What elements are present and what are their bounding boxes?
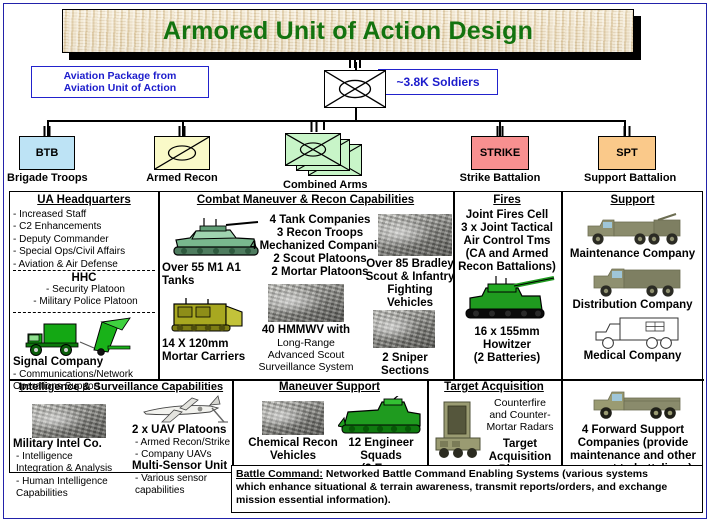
ua-headquarters-bullets: - Increased Staff - C2 Enhancements - De… — [10, 209, 158, 271]
divider-bot-1 — [232, 379, 234, 474]
battle-command-text-1: Networked Battle Command Enabling System… — [326, 468, 648, 480]
uav-line-1: - Armed Recon/Strike — [135, 437, 232, 449]
ambulance-icon — [590, 314, 686, 352]
hhc-bullets: - Security Platoon - Military Police Pla… — [10, 284, 158, 309]
hmmwv-heading: 40 HMMWV with — [250, 324, 362, 337]
howitzer-line-3: (2 Batteries) — [453, 352, 561, 365]
hmmwv-line-3: Surveillance System — [250, 361, 362, 373]
org-unit-armed-recon[interactable]: Armed Recon — [142, 136, 222, 184]
hmmwv-label: 40 HMMWV with Long-Range Advanced Scout … — [250, 324, 362, 373]
hq-bullet-3: - Deputy Commander — [13, 234, 158, 246]
org-unit-btb[interactable]: BTB Brigade Troops — [7, 136, 87, 184]
aviation-callout-line1: Aviation Package from — [64, 70, 177, 82]
medical-company-label: Medical Company — [561, 350, 704, 363]
battle-command-label: Battle Command: — [236, 468, 323, 480]
cavalry-glyph-icon — [155, 137, 209, 169]
chem-line-2: Vehicles — [246, 450, 340, 463]
engineer-line-1: 12 Engineer Squads — [332, 437, 430, 463]
multisensor-line-2: capabilities — [135, 485, 232, 497]
hhc-section: HHC - Security Platoon - Military Police… — [10, 272, 158, 309]
uav-lines: - Armed Recon/Strike - Company UAVs — [132, 437, 232, 462]
fires-line-2: 3 x Joint Tactical — [453, 222, 561, 235]
multisensor-block: Multi-Sensor Unit - Various sensor capab… — [132, 460, 232, 498]
armor-cavalry-glyph-icon — [325, 71, 385, 107]
intel-tent-photo — [32, 404, 106, 438]
mortar-carrier-label: 14 X 120mm Mortar Carriers — [162, 338, 262, 364]
echelon-marker-combined-arms — [311, 122, 318, 132]
fires-line-5: Recon Battalions) — [453, 261, 561, 274]
page-title: Armored Unit of Action Design — [163, 17, 533, 46]
soldier-count-callout: ~3.8K Soldiers — [378, 69, 498, 95]
spt-abbr: SPT — [599, 137, 655, 169]
battle-command-line-2: which enhance situational & terrain awar… — [236, 481, 698, 494]
multisensor-line-1: - Various sensor — [135, 473, 232, 485]
combined-arms-stack — [283, 130, 367, 178]
aviation-callout-line2: Aviation Unit of Action — [64, 82, 177, 94]
uav-drone-icon — [134, 392, 228, 428]
cargo-truck-icon — [590, 264, 686, 300]
signal-truck-icon — [22, 316, 142, 360]
echelon-marker-spt — [624, 126, 631, 136]
hq-bullet-2: - C2 Enhancements — [13, 221, 158, 233]
spt-caption: Support Battalion — [584, 172, 670, 184]
combined-arms-caption: Combined Arms — [283, 179, 367, 191]
maintenance-company-label: Maintenance Company — [561, 248, 704, 261]
radar-desc: Counterfire and Counter- Mortar Radars — [480, 397, 560, 433]
fires-line-3: Air Control Tms — [453, 235, 561, 248]
armed-recon-caption: Armed Recon — [142, 172, 222, 184]
hmmwv-line-2: Advanced Scout — [250, 349, 362, 361]
cm-list-2: 3 Recon Troops — [240, 227, 400, 240]
military-intel-lines: - Intelligence Integration & Analysis - … — [13, 451, 125, 501]
howitzer-label: 16 x 155mm Howitzer (2 Batteries) — [453, 326, 561, 365]
fs-line-2: Companies (provide — [563, 437, 703, 450]
fires-panel: Fires Joint Fires Cell 3 x Joint Tactica… — [453, 194, 561, 274]
ta-unit-line-2: Acquisition — [480, 451, 560, 464]
mortar-line-2: Mortar Carriers — [162, 351, 262, 364]
military-intel-block: Military Intel Co. - Intelligence Integr… — [13, 438, 125, 501]
btb-caption: Brigade Troops — [7, 172, 87, 184]
support-title: Support — [561, 194, 704, 206]
org-bus-line — [47, 120, 625, 122]
target-acquisition-title: Target Acquisition — [427, 381, 561, 393]
echelon-marker-strike — [497, 126, 504, 136]
support-truck-icon — [590, 388, 686, 424]
support-panel: Support — [561, 194, 704, 206]
ta-unit-line-1: Target — [480, 438, 560, 451]
hhc-bullet-2: - Military Police Platoon — [13, 296, 158, 308]
fs-line-3: maintenance and other — [563, 450, 703, 463]
intel-line-3: - Human Intelligence — [16, 476, 125, 488]
hq-bullet-4: - Special Ops/Civil Affairs — [13, 246, 158, 258]
fires-line-1: Joint Fires Cell — [453, 209, 561, 222]
radar-line-2: and Counter- — [480, 409, 560, 421]
echelon-marker-btb — [44, 126, 51, 136]
target-acquisition-panel: Target Acquisition — [427, 381, 561, 393]
multisensor-title: Multi-Sensor Unit — [132, 460, 232, 473]
hq-bullet-1: - Increased Staff — [13, 209, 158, 221]
fires-title: Fires — [453, 194, 561, 206]
org-unit-spt[interactable]: SPT Support Battalion — [584, 136, 670, 184]
chemical-recon-photo — [262, 401, 324, 435]
brigade-unit-symbol — [324, 70, 386, 108]
fires-lines: Joint Fires Cell 3 x Joint Tactical Air … — [453, 209, 561, 274]
hhc-bullet-1: - Security Platoon — [13, 284, 158, 296]
strike-abbr: STRIKE — [472, 137, 528, 169]
engineer-vehicle-icon — [338, 396, 426, 438]
maneuver-support-panel: Maneuver Support — [232, 381, 427, 393]
divider-hhc-top — [13, 270, 155, 271]
uav-title: 2 x UAV Platoons — [132, 424, 232, 437]
battle-command-strip: Battle Command: Networked Battle Command… — [231, 465, 703, 513]
mortar-carrier-icon — [168, 296, 252, 338]
military-intel-title: Military Intel Co. — [13, 438, 125, 451]
howitzer-line-1: 16 x 155mm — [453, 326, 561, 339]
org-unit-strike[interactable]: STRIKE Strike Battalion — [459, 136, 541, 184]
divider-signal-top — [13, 312, 155, 313]
spt-symbol-box: SPT — [598, 136, 656, 170]
bradley-photo — [378, 214, 452, 256]
hhc-title: HHC — [10, 272, 158, 284]
howitzer-icon — [462, 276, 558, 324]
combined-arms-symbol-front — [285, 133, 341, 166]
sniper-photo — [373, 310, 435, 348]
sniper-label: 2 Sniper Sections — [358, 352, 452, 378]
uav-block: 2 x UAV Platoons - Armed Recon/Strike - … — [132, 424, 232, 462]
brigade-hq-symbol-group — [315, 70, 395, 108]
btb-symbol-box: BTB — [19, 136, 75, 170]
distribution-company-label: Distribution Company — [561, 299, 704, 312]
radar-line-1: Counterfire — [480, 397, 560, 409]
fs-line-1: 4 Forward Support — [563, 424, 703, 437]
drop-combined-arms — [323, 120, 325, 130]
combat-maneuver-panel: Combat Maneuver & Recon Capabilities — [158, 194, 453, 206]
org-unit-combined-arms[interactable]: Combined Arms — [283, 130, 367, 191]
armor-cavalry-glyph-front-icon — [286, 134, 340, 165]
battle-command-line-3: mission essential information). — [236, 494, 698, 507]
cm-list-1: 4 Tank Companies — [240, 214, 400, 227]
maneuver-support-title: Maneuver Support — [232, 381, 427, 393]
signal-line-1: - Communications/Network — [13, 369, 158, 381]
echelon-marker-armed-recon — [179, 126, 186, 136]
chem-line-1: Chemical Recon — [246, 437, 340, 450]
battle-command-line-1: Battle Command: Networked Battle Command… — [236, 468, 698, 481]
title-banner: Armored Unit of Action Design — [62, 9, 634, 53]
bradley-line-1: Over 85 Bradley — [364, 258, 456, 271]
echelon-marker-brigade — [349, 58, 361, 68]
ua-headquarters-panel: UA Headquarters - Increased Staff - C2 E… — [10, 194, 158, 271]
radar-line-3: Mortar Radars — [480, 421, 560, 433]
intel-line-2: Integration & Analysis — [16, 463, 125, 475]
capabilities-matrix: UA Headquarters - Increased Staff - C2 E… — [9, 191, 703, 473]
ua-headquarters-title: UA Headquarters — [10, 194, 158, 206]
divider-col-1 — [158, 192, 160, 379]
multisensor-lines: - Various sensor capabilities — [132, 473, 232, 498]
intel-line-4: Capabilities — [16, 488, 125, 500]
bradley-line-3: Fighting Vehicles — [364, 284, 456, 310]
strike-caption: Strike Battalion — [459, 172, 541, 184]
cm-list-3: 4 Mechanized Companies — [240, 240, 400, 253]
bradley-line-2: Scout & Infantry — [364, 271, 456, 284]
combat-maneuver-title: Combat Maneuver & Recon Capabilities — [158, 194, 453, 206]
armed-recon-symbol-box — [154, 136, 210, 170]
hmmwv-line-1: Long-Range — [250, 337, 362, 349]
wrecker-truck-icon — [584, 212, 686, 248]
hmmwv-photo — [268, 284, 344, 322]
howitzer-line-2: Howitzer — [453, 339, 561, 352]
btb-abbr: BTB — [20, 137, 74, 169]
fires-line-4: (CA and Armed — [453, 248, 561, 261]
intel-line-1: - Intelligence — [16, 451, 125, 463]
chemical-recon-label: Chemical Recon Vehicles — [246, 437, 340, 463]
mortar-line-1: 14 X 120mm — [162, 338, 262, 351]
bradley-label: Over 85 Bradley Scout & Infantry Fightin… — [364, 258, 456, 310]
aviation-package-callout: Aviation Package from Aviation Unit of A… — [31, 66, 209, 98]
strike-symbol-box: STRIKE — [471, 136, 529, 170]
